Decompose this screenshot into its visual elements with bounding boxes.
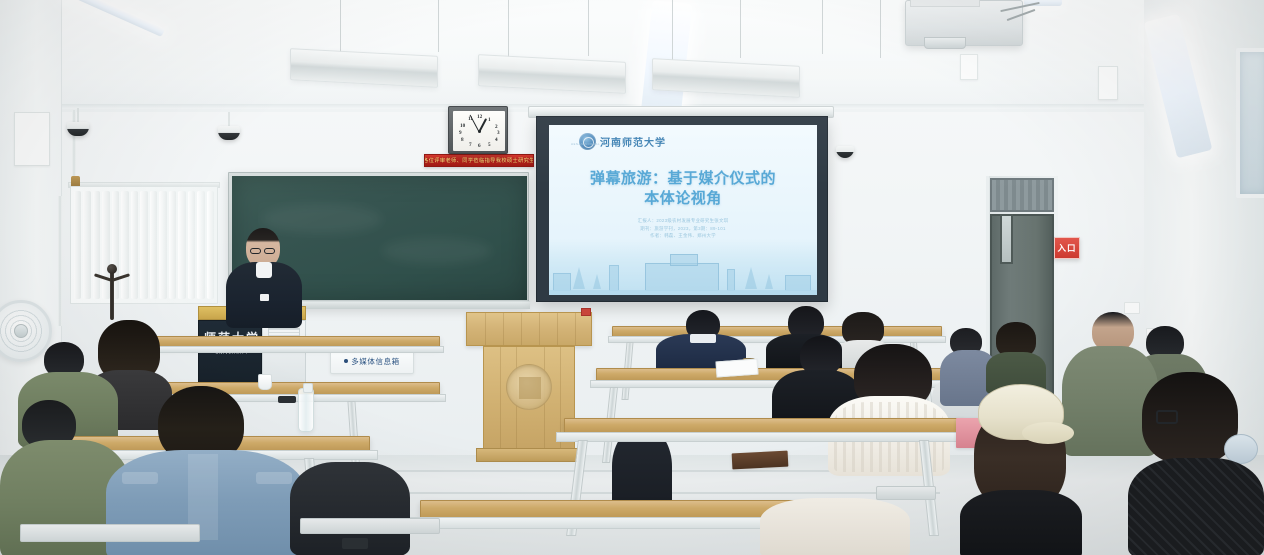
- lamp-wire: [508, 0, 509, 60]
- notebook[interactable]: [732, 451, 789, 470]
- presenter-badge: [260, 294, 269, 301]
- coat-rack: [93, 268, 131, 320]
- window: [1236, 48, 1264, 198]
- university-crest-icon: [579, 133, 596, 150]
- projection-screen: 河南师范大学 HENAN NORMAL UNIVERSITY 弹幕旅游：基于媒介…: [549, 125, 817, 295]
- tree-icon: [593, 274, 601, 289]
- clock-numeral: 10: [460, 123, 465, 129]
- main-building-icon: [645, 263, 719, 291]
- lamp-wire: [672, 0, 673, 60]
- clock-center-pin: [478, 130, 481, 133]
- slide-subtitle-line1: 汇报人：2023级农村发展专业研究生张文琪: [549, 217, 817, 225]
- radiator-fin: [74, 191, 81, 299]
- wall-notice: [14, 112, 50, 166]
- audience-member-with-glasses: [1128, 372, 1264, 555]
- radiator-fin: [83, 191, 90, 299]
- chalk-smudge: [382, 238, 492, 264]
- smartphone[interactable]: [342, 538, 368, 549]
- clock-numeral: 7: [469, 142, 472, 148]
- bullet-icon: [344, 359, 348, 363]
- security-camera-icon: [218, 126, 240, 140]
- audience-member-with-cap: [960, 378, 1080, 555]
- paper-sheet[interactable]: [715, 359, 758, 378]
- radiator-fin: [159, 191, 166, 299]
- university-name: 河南师范大学: [600, 134, 666, 149]
- wall-clock: 12 1 2 3 4 5 6 7 8 9 10 11: [448, 106, 508, 154]
- radiator-fin: [178, 191, 185, 299]
- radiator-fin: [188, 191, 195, 299]
- projector-lens: [924, 37, 966, 49]
- clock-numeral: 8: [461, 137, 464, 143]
- radiator-fin: [150, 191, 157, 299]
- wooden-lectern: [466, 312, 592, 466]
- clock-numeral: 6: [478, 143, 481, 149]
- audience-member-foreground: [760, 498, 910, 555]
- door-transom-vent: [990, 178, 1054, 212]
- glasses-icon: [250, 248, 261, 254]
- building-icon: [785, 275, 811, 291]
- bench-seat: [20, 524, 200, 542]
- lamp-wire: [340, 0, 341, 56]
- lamp-wire: [438, 0, 439, 52]
- radiator-fin: [131, 191, 138, 299]
- glasses-icon: [264, 248, 275, 254]
- slide-subtitle-line2: 期刊：旅游学刊，2023，第3期：89-101: [549, 225, 817, 233]
- radiator-fin: [197, 191, 204, 299]
- lecture-hall-photo: 热烈欢迎各位评审老师、同学莅临指导我校硕士研究生开题答辩 12 1 2 3 4 …: [0, 0, 1264, 555]
- projector-bracket: [910, 0, 980, 7]
- entrance-sign-text: 入口: [1057, 242, 1076, 254]
- welcome-banner: 热烈欢迎各位评审老师、同学莅临指导我校硕士研究生开题答辩: [424, 154, 534, 167]
- presenter: [222, 228, 306, 328]
- lectern-red-tag: [581, 308, 591, 316]
- coat-rack-pole: [110, 268, 114, 320]
- projection-screen-frame: 河南师范大学 HENAN NORMAL UNIVERSITY 弹幕旅游：基于媒介…: [536, 116, 828, 302]
- university-name-en: HENAN NORMAL UNIVERSITY: [571, 143, 624, 146]
- clock-face: 12 1 2 3 4 5 6 7 8 9 10 11: [453, 111, 505, 151]
- ground-line: [549, 290, 817, 295]
- university-emblem-icon: [506, 364, 552, 410]
- slide-subtitle: 汇报人：2023级农村发展专业研究生张文琪 期刊：旅游学刊，2023，第3期：8…: [549, 217, 817, 240]
- lectern-top: [466, 312, 592, 346]
- projector: [905, 0, 1023, 46]
- slide-university-logo: 河南师范大学: [579, 133, 666, 150]
- tree-icon: [765, 274, 773, 289]
- door-window: [1000, 214, 1013, 264]
- lectern-base: [476, 448, 582, 462]
- lamp-wire: [588, 0, 589, 56]
- security-camera-icon: [67, 122, 89, 136]
- clock-numeral: 4: [495, 137, 498, 143]
- presenter-collar: [256, 262, 272, 278]
- slide-title-line1: 弹幕旅游：基于媒介仪式的: [549, 169, 817, 189]
- info-box-label: 多媒体信息箱: [351, 356, 400, 367]
- clock-numeral: 1: [488, 117, 491, 123]
- fan-hub: [14, 324, 28, 338]
- banner-text: 热烈欢迎各位评审老师、同学莅临指导我校硕士研究生开题答辩: [424, 157, 534, 164]
- building-icon: [553, 273, 571, 291]
- radiator-fin: [207, 191, 214, 299]
- entrance-sign: 入口: [1054, 237, 1080, 259]
- building-icon: [609, 265, 619, 291]
- clock-numeral: 9: [459, 130, 462, 136]
- audience-member: [986, 322, 1046, 384]
- clock-numeral: 12: [477, 114, 482, 120]
- audience-member: [656, 310, 746, 362]
- ceiling: [0, 0, 1264, 112]
- lamp-wire: [740, 0, 741, 58]
- radiator-fin: [140, 191, 147, 299]
- tree-icon: [573, 267, 585, 289]
- tree-icon: [745, 267, 757, 289]
- wall-notice: [960, 54, 978, 80]
- clock-numeral: 3: [497, 130, 500, 136]
- building-icon: [727, 269, 735, 291]
- slide-title: 弹幕旅游：基于媒介仪式的 本体论视角: [549, 169, 817, 209]
- wall-notice: [1098, 66, 1118, 100]
- bench-seat: [300, 518, 440, 534]
- clock-numeral: 5: [488, 142, 491, 148]
- lamp-wire: [880, 0, 881, 58]
- lamp-wire: [822, 0, 823, 54]
- coat-hook: [112, 273, 130, 281]
- slide-title-line2: 本体论视角: [549, 189, 817, 209]
- coat-rack-knob: [107, 264, 117, 274]
- floor-seam: [330, 470, 890, 472]
- slide-campus-illustration: [549, 239, 817, 295]
- wall-pipe: [58, 196, 62, 326]
- radiator-fin: [169, 191, 176, 299]
